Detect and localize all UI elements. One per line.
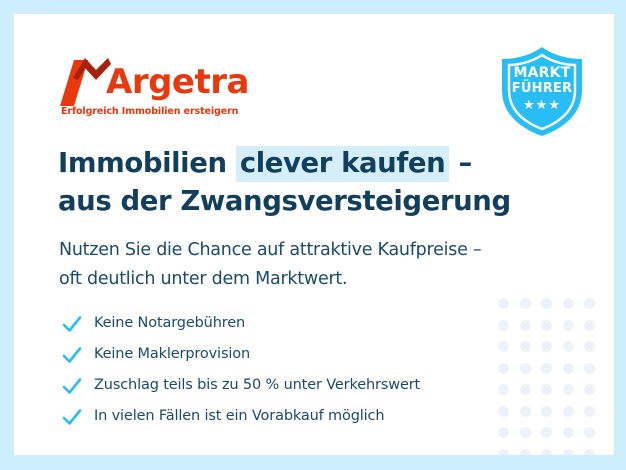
list-item: In vielen Fällen ist ein Vorabkauf mögli… — [60, 403, 520, 434]
decorative-dot — [541, 449, 552, 456]
list-item-label: In vielen Fällen ist ein Vorabkauf mögli… — [94, 403, 384, 429]
decorative-dot — [541, 298, 552, 309]
content-card: Argetra Erfolgreich Immobilien ersteiger… — [14, 14, 614, 455]
decorative-dot — [584, 427, 595, 438]
list-item-label: Keine Notargebühren — [94, 310, 245, 336]
decorative-dot — [498, 298, 509, 309]
decorative-dot — [563, 449, 574, 456]
decorative-dot — [563, 341, 574, 352]
decorative-dot — [520, 363, 531, 374]
decorative-dot — [584, 363, 595, 374]
decorative-dot — [563, 406, 574, 417]
decorative-dot — [520, 427, 531, 438]
list-item: Keine Notargebühren — [60, 310, 520, 341]
list-item: Keine Maklerprovision — [60, 341, 520, 372]
argetra-roof-a-icon — [58, 56, 112, 106]
shield-badge-icon — [490, 38, 594, 142]
check-icon — [60, 374, 84, 398]
decorative-dot — [584, 298, 595, 309]
decorative-dot — [520, 320, 531, 331]
headline-line-1: Immobilien clever kaufen – — [58, 144, 578, 182]
headline-text-before: Immobilien — [58, 147, 236, 179]
check-icon — [60, 405, 84, 429]
decorative-dot — [541, 427, 552, 438]
decorative-dot — [563, 298, 574, 309]
decorative-dot — [563, 384, 574, 395]
decorative-dot — [520, 384, 531, 395]
list-item: Zuschlag teils bis zu 50 % unter Verkehr… — [60, 372, 520, 403]
promo-banner: Argetra Erfolgreich Immobilien ersteiger… — [0, 0, 626, 470]
decorative-dot — [520, 341, 531, 352]
subheading-line-1: Nutzen Sie die Chance auf attraktive Kau… — [59, 236, 559, 265]
list-item-label: Keine Maklerprovision — [94, 341, 250, 367]
decorative-dot — [541, 341, 552, 352]
decorative-dot — [520, 298, 531, 309]
decorative-dot — [563, 363, 574, 374]
decorative-dot — [584, 320, 595, 331]
decorative-dot — [584, 384, 595, 395]
decorative-dot — [520, 406, 531, 417]
logo-tagline: Erfolgreich Immobilien ersteigern — [61, 106, 238, 117]
market-leader-badge: MARKT FÜHRER ★★★ — [490, 38, 594, 142]
decorative-dot — [498, 449, 509, 456]
benefits-list: Keine NotargebührenKeine Maklerprovision… — [60, 310, 520, 434]
argetra-logo[interactable]: Argetra Erfolgreich Immobilien ersteiger… — [58, 56, 238, 126]
decorative-dot — [520, 449, 531, 456]
decorative-dot — [541, 363, 552, 374]
subheading-line-2: oft deutlich unter dem Marktwert. — [59, 265, 559, 294]
decorative-dot — [541, 384, 552, 395]
decorative-dot — [563, 320, 574, 331]
headline-line-2: aus der Zwangsversteigerung — [58, 182, 578, 220]
logo-wordmark: Argetra — [106, 62, 249, 102]
headline-highlight: clever kaufen — [236, 146, 450, 182]
decorative-dot — [584, 406, 595, 417]
check-icon — [60, 312, 84, 336]
decorative-dot — [584, 449, 595, 456]
subheading: Nutzen Sie die Chance auf attraktive Kau… — [59, 236, 559, 294]
decorative-dot — [584, 341, 595, 352]
check-icon — [60, 343, 84, 367]
decorative-dot — [541, 406, 552, 417]
decorative-dot — [563, 427, 574, 438]
decorative-dot — [541, 320, 552, 331]
logo-row: Argetra — [58, 56, 238, 106]
list-item-label: Zuschlag teils bis zu 50 % unter Verkehr… — [94, 372, 420, 398]
page-title: Immobilien clever kaufen – aus der Zwang… — [58, 144, 578, 220]
headline-text-after: – — [449, 147, 472, 179]
